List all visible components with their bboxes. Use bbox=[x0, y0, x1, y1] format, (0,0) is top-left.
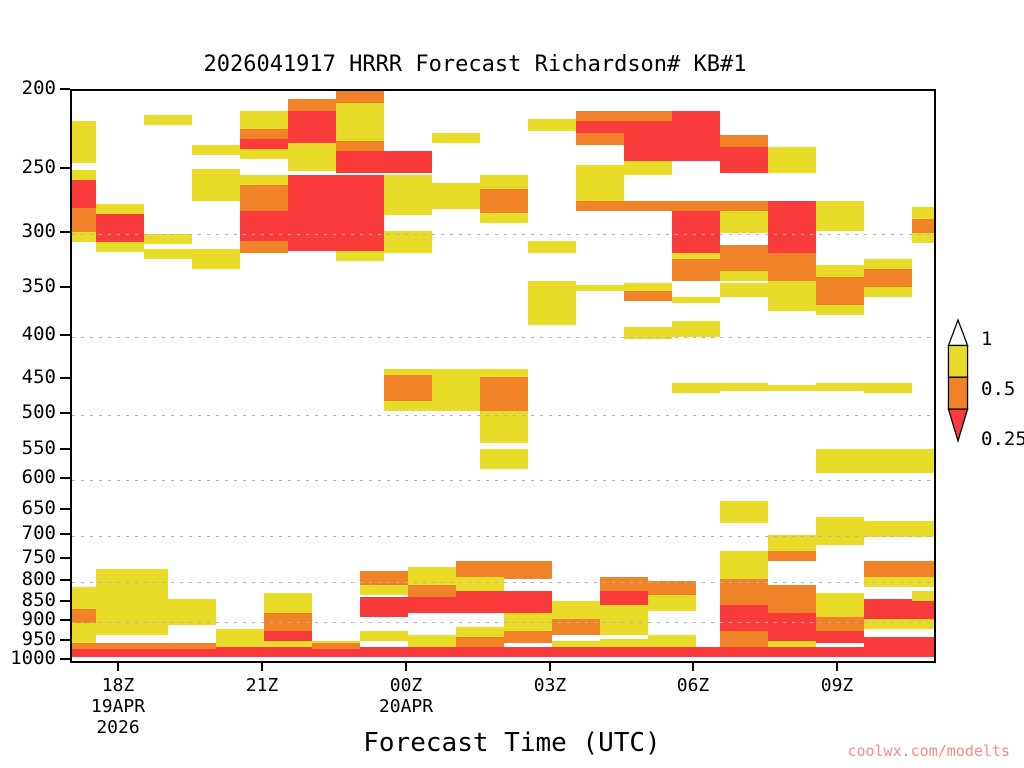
heatmap-cell bbox=[336, 91, 384, 103]
heatmap-cell bbox=[480, 189, 528, 213]
heatmap-cell bbox=[192, 145, 240, 155]
heatmap-cell bbox=[480, 377, 528, 411]
y-axis-label: 450 bbox=[0, 368, 56, 387]
y-axis-tick bbox=[60, 377, 70, 379]
heatmap-cell bbox=[384, 151, 432, 173]
heatmap-cell bbox=[720, 211, 768, 233]
x-axis-label-time: 21Z bbox=[202, 675, 322, 696]
heatmap-cell bbox=[696, 635, 720, 645]
heatmap-cell bbox=[288, 111, 336, 143]
heatmap-cell bbox=[432, 183, 480, 209]
y-axis-tick bbox=[60, 334, 70, 336]
heatmap-cell bbox=[96, 242, 144, 252]
heatmap-cell bbox=[720, 245, 768, 271]
colorbar-label-0.5: 0.5 bbox=[981, 380, 1015, 399]
heatmap-cell bbox=[504, 561, 552, 579]
heatmap-cell bbox=[816, 277, 864, 305]
heatmap-cell bbox=[360, 585, 408, 595]
heatmap-cell bbox=[264, 631, 312, 641]
y-axis-tick bbox=[60, 619, 70, 621]
x-axis-label: 21Z bbox=[202, 675, 322, 696]
heatmap-cell bbox=[720, 501, 768, 523]
heatmap-cell bbox=[912, 591, 934, 601]
heatmap-cell bbox=[240, 241, 288, 253]
x-axis-label-time: 06Z bbox=[633, 675, 753, 696]
heatmap-cell bbox=[624, 201, 672, 211]
y-axis-tick bbox=[60, 88, 70, 90]
x-axis-tick bbox=[692, 661, 694, 671]
x-axis-label-time: 18Z bbox=[58, 675, 178, 696]
heatmap-cell bbox=[336, 103, 384, 141]
colorbar-label-1: 1 bbox=[981, 330, 992, 349]
heatmap-cell bbox=[864, 599, 912, 619]
y-axis-label: 750 bbox=[0, 548, 56, 567]
y-axis-tick bbox=[60, 167, 70, 169]
heatmap-cell bbox=[816, 517, 864, 533]
heatmap-cell bbox=[336, 141, 384, 151]
x-axis-label-time: 00Z bbox=[346, 675, 466, 696]
x-axis-label-date: 20APR bbox=[346, 696, 466, 717]
heatmap-cell bbox=[72, 208, 96, 232]
heatmap-cell bbox=[528, 281, 576, 315]
heatmap-cell bbox=[456, 627, 504, 637]
heatmap-cell bbox=[648, 581, 696, 595]
heatmap-cell bbox=[576, 133, 624, 145]
heatmap-cell bbox=[672, 201, 720, 211]
heatmap-cell bbox=[360, 597, 408, 617]
colorbar-under-arrow bbox=[948, 409, 967, 441]
heatmap-cell bbox=[504, 631, 552, 643]
heatmap-cell bbox=[816, 593, 864, 617]
heatmap-cell bbox=[672, 321, 720, 337]
heatmap-cell bbox=[72, 180, 96, 208]
heatmap-cell bbox=[168, 599, 216, 625]
heatmap-cell bbox=[864, 577, 912, 587]
heatmap-cell bbox=[72, 170, 96, 180]
heatmap-cell bbox=[240, 175, 288, 185]
heatmap-cell bbox=[624, 283, 672, 291]
heatmap-cell bbox=[336, 151, 384, 173]
heatmap-cell bbox=[672, 383, 720, 393]
heatmap-cell bbox=[144, 569, 168, 635]
heatmap-cell bbox=[720, 551, 768, 571]
colorbar-segment-high bbox=[948, 345, 967, 377]
heatmap-cell bbox=[720, 201, 768, 211]
heatmap-cell bbox=[264, 613, 312, 631]
heatmap-cell bbox=[144, 115, 192, 125]
heatmap-cell bbox=[576, 285, 624, 291]
heatmap-cell bbox=[528, 315, 576, 325]
heatmap-cell bbox=[240, 129, 288, 139]
colorbar-over-arrow bbox=[948, 320, 967, 345]
heatmap-cell bbox=[192, 259, 240, 269]
x-axis-label: 09Z bbox=[777, 675, 897, 696]
heatmap-cell bbox=[480, 369, 528, 377]
y-axis-tick bbox=[60, 477, 70, 479]
heatmap-cell bbox=[456, 591, 504, 613]
heatmap-cell bbox=[912, 207, 934, 219]
heatmap-cell bbox=[408, 585, 456, 597]
heatmap-cell bbox=[768, 585, 816, 613]
heatmap-cell bbox=[480, 175, 528, 189]
x-axis-label-date: 19APR bbox=[58, 696, 178, 717]
heatmap-cell bbox=[336, 175, 384, 251]
heatmap-cell bbox=[768, 385, 816, 391]
heatmap-cell bbox=[816, 617, 864, 631]
x-axis-tick bbox=[261, 661, 263, 671]
x-axis-label: 03Z bbox=[490, 675, 610, 696]
heatmap-cell bbox=[432, 133, 480, 143]
colorbar bbox=[941, 320, 975, 460]
heatmap-cell bbox=[408, 567, 456, 585]
heatmap-cell bbox=[912, 449, 934, 473]
heatmap-cell bbox=[816, 631, 864, 643]
y-axis-label: 650 bbox=[0, 499, 56, 518]
heatmap-cell bbox=[768, 613, 816, 641]
heatmap-cell bbox=[336, 251, 384, 261]
plot-area bbox=[70, 89, 936, 663]
heatmap-cell bbox=[96, 204, 144, 214]
heatmap-cell bbox=[864, 521, 912, 537]
heatmap-cell bbox=[480, 449, 528, 459]
heatmap-cell bbox=[912, 601, 934, 619]
heatmap-cell bbox=[672, 211, 720, 253]
heatmap-cell bbox=[864, 269, 912, 287]
heatmap-cell bbox=[408, 635, 456, 647]
heatmap-cell bbox=[816, 265, 864, 277]
heatmap-cell bbox=[360, 631, 408, 641]
heatmap-cell bbox=[552, 619, 600, 635]
heatmap-cell bbox=[864, 449, 912, 473]
heatmap-cell bbox=[624, 291, 672, 301]
chart-root: 2026041917 HRRR Forecast Richardson# KB#… bbox=[0, 0, 1024, 768]
y-axis-tick bbox=[60, 286, 70, 288]
heatmap-cell bbox=[96, 569, 144, 635]
y-axis-tick bbox=[60, 231, 70, 233]
heatmap-cell bbox=[192, 169, 240, 179]
heatmap-cell bbox=[816, 305, 864, 315]
heatmap-cell bbox=[624, 121, 672, 161]
heatmap-cell bbox=[432, 369, 480, 411]
heatmap-cell bbox=[528, 241, 576, 253]
heatmap-cell bbox=[384, 369, 432, 375]
heatmap-cell bbox=[864, 259, 912, 269]
heatmap-cell bbox=[624, 161, 672, 175]
heatmap-cell bbox=[720, 383, 768, 391]
heatmap-cell bbox=[912, 619, 934, 629]
heatmap-cell bbox=[192, 249, 240, 259]
gridline bbox=[72, 661, 934, 662]
heatmap-cell bbox=[816, 531, 864, 545]
colorbar-segment-mid bbox=[948, 377, 967, 409]
x-axis-label: 00Z20APR bbox=[346, 675, 466, 717]
heatmap-cell bbox=[648, 595, 696, 611]
heatmap-cell bbox=[480, 459, 528, 469]
heatmap-cell bbox=[72, 121, 96, 163]
heatmap-cell bbox=[624, 327, 672, 339]
heatmap-cell bbox=[504, 591, 552, 613]
heatmap-cell bbox=[72, 232, 96, 242]
heatmap-cell bbox=[288, 143, 336, 171]
y-axis-label: 500 bbox=[0, 403, 56, 422]
heatmap-cell bbox=[144, 234, 192, 244]
heatmap-cell bbox=[96, 214, 144, 242]
heatmap-cell bbox=[672, 111, 720, 161]
heatmap-cell bbox=[864, 629, 912, 637]
heatmap-cell bbox=[384, 401, 432, 411]
y-axis-label: 800 bbox=[0, 570, 56, 589]
page-title: 2026041917 HRRR Forecast Richardson# KB#… bbox=[0, 52, 950, 77]
y-axis-tick bbox=[60, 579, 70, 581]
heatmap-cell bbox=[240, 139, 288, 149]
y-axis-tick bbox=[60, 658, 70, 660]
heatmap-cell bbox=[480, 411, 528, 443]
heatmap-cell bbox=[864, 383, 912, 393]
heatmap-cell bbox=[768, 281, 816, 299]
heatmap-cell bbox=[600, 605, 648, 635]
y-axis-label: 900 bbox=[0, 610, 56, 629]
heatmap-cell bbox=[768, 201, 816, 253]
y-axis-label: 600 bbox=[0, 468, 56, 487]
y-axis-label: 550 bbox=[0, 439, 56, 458]
heatmap-cell bbox=[864, 287, 912, 297]
heatmap-cell bbox=[768, 535, 816, 551]
heatmap-cell bbox=[576, 121, 624, 133]
heatmap-cell bbox=[192, 179, 240, 201]
heatmap-cell bbox=[864, 619, 912, 629]
y-axis-tick bbox=[60, 557, 70, 559]
heatmap-cell bbox=[240, 185, 288, 211]
x-axis-tick bbox=[549, 661, 551, 671]
y-axis-label: 700 bbox=[0, 524, 56, 543]
colorbar-label-0.25: 0.25 bbox=[981, 430, 1024, 449]
heatmap-cell bbox=[720, 605, 768, 631]
heatmap-cell bbox=[720, 579, 768, 605]
y-axis-tick bbox=[60, 533, 70, 535]
heatmap-cell bbox=[672, 253, 720, 259]
y-axis-label: 350 bbox=[0, 277, 56, 296]
heatmap-cell bbox=[648, 635, 696, 647]
heatmap-cell bbox=[720, 147, 768, 173]
heatmap-cell bbox=[456, 577, 504, 591]
heatmap-cell bbox=[240, 111, 288, 129]
heatmap-cell bbox=[408, 597, 456, 613]
y-axis-label: 200 bbox=[0, 79, 56, 98]
heatmap-cell bbox=[384, 175, 432, 215]
heatmap-cell bbox=[384, 375, 432, 401]
heatmap-cell bbox=[816, 449, 864, 473]
heatmap-cell bbox=[720, 271, 768, 281]
y-axis-label: 1000 bbox=[0, 649, 56, 668]
x-axis-label-time: 09Z bbox=[777, 675, 897, 696]
heatmap-cell bbox=[576, 201, 624, 211]
heatmap-cell bbox=[264, 593, 312, 613]
heatmap-cell bbox=[144, 249, 192, 259]
y-axis-tick bbox=[60, 600, 70, 602]
heatmap-cell bbox=[768, 147, 816, 173]
heatmap-cell bbox=[480, 213, 528, 223]
heatmap-cell bbox=[72, 587, 96, 609]
x-axis-tick bbox=[117, 661, 119, 671]
heatmap-cell bbox=[288, 99, 336, 111]
heatmap-cell bbox=[288, 175, 336, 251]
heatmap-cell bbox=[720, 135, 768, 147]
heatmap-cell bbox=[456, 561, 504, 577]
heatmap-cell bbox=[624, 111, 672, 121]
heatmap-cell bbox=[312, 643, 360, 649]
heatmap-cell bbox=[576, 111, 624, 121]
heatmap-cell bbox=[720, 283, 768, 297]
heatmap-cell bbox=[912, 233, 934, 243]
heatmap-cell bbox=[600, 577, 648, 591]
heatmap-cell bbox=[552, 601, 600, 619]
heatmap-cell bbox=[816, 383, 864, 391]
x-axis-tick bbox=[405, 661, 407, 671]
heatmap-cell bbox=[912, 561, 934, 577]
y-axis-label: 400 bbox=[0, 325, 56, 344]
heatmap-cell bbox=[768, 551, 816, 561]
y-axis-label: 250 bbox=[0, 158, 56, 177]
heatmap-cell bbox=[504, 613, 552, 631]
heatmap-cell bbox=[216, 641, 312, 647]
heatmap-cell bbox=[672, 297, 720, 303]
heatmap-cell bbox=[360, 571, 408, 585]
y-axis-tick bbox=[60, 639, 70, 641]
heatmap-cell bbox=[600, 591, 648, 605]
heatmap-cell bbox=[576, 179, 624, 201]
heatmap-cell bbox=[384, 231, 432, 253]
heatmap-cell bbox=[912, 577, 934, 587]
heatmap-cell bbox=[912, 219, 934, 233]
y-axis-label: 300 bbox=[0, 222, 56, 241]
y-axis-tick bbox=[60, 448, 70, 450]
x-axis-tick bbox=[836, 661, 838, 671]
heatmap-cell bbox=[768, 299, 816, 311]
x-axis-label-time: 03Z bbox=[490, 675, 610, 696]
heatmap-cell bbox=[912, 521, 934, 537]
heatmap-cell bbox=[576, 165, 624, 179]
heatmap-cell bbox=[528, 119, 576, 131]
heatmap-cells bbox=[72, 91, 934, 661]
heatmap-cell bbox=[768, 253, 816, 281]
heatmap-cell bbox=[72, 643, 216, 649]
heatmap-cell bbox=[72, 609, 96, 623]
y-axis-tick bbox=[60, 412, 70, 414]
y-axis-tick bbox=[60, 508, 70, 510]
x-axis-label: 06Z bbox=[633, 675, 753, 696]
heatmap-cell bbox=[816, 201, 864, 231]
heatmap-cell bbox=[240, 211, 288, 241]
heatmap-cell bbox=[456, 637, 504, 647]
heatmap-cell bbox=[240, 149, 288, 159]
watermark: coolwx.com/modelts bbox=[847, 742, 1010, 760]
heatmap-cell bbox=[864, 561, 912, 577]
